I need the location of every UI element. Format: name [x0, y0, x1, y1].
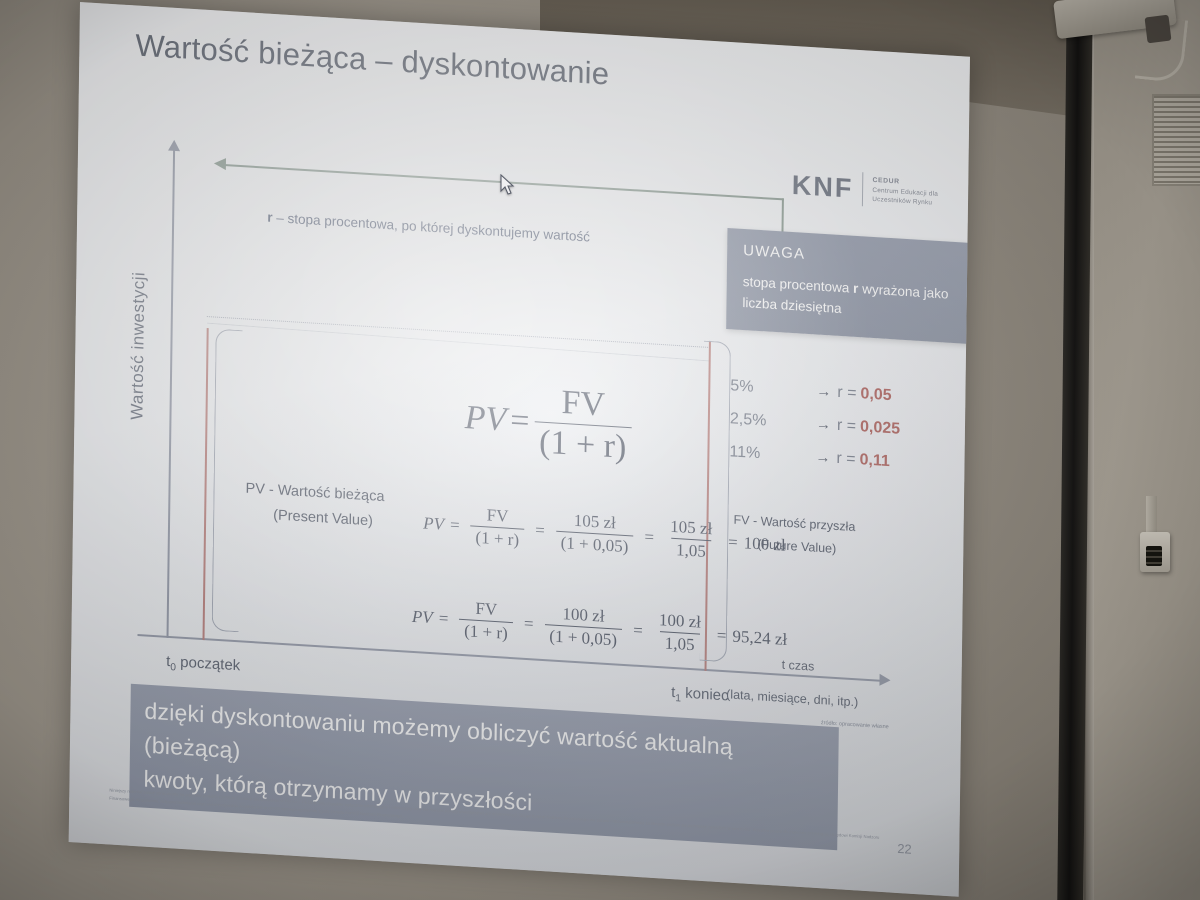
ex2-den3: 1,05 [660, 631, 700, 655]
ex2-eq2: = [518, 613, 540, 634]
ex2-frac1: FV (1 + r) [459, 598, 513, 644]
ex2-frac2: 100 zł (1 + 0,05) [544, 603, 622, 651]
ex1-eq3: = [638, 526, 660, 547]
logo-divider [862, 172, 863, 206]
y-axis-label: Wartość inwestycji [127, 250, 150, 441]
logo-subtitle: CEDUR Centrum Edukacji dla Uczestników R… [872, 176, 938, 208]
ex2-eq1: = [433, 608, 455, 629]
example-formula-1: PV = FV (1 + r) = 105 zł (1 + 0,05) = 10… [423, 502, 786, 567]
outlet-socket-face [1146, 546, 1162, 566]
ex1-den1: (1 + r) [470, 525, 524, 550]
rate-caption-text: – stopa procentowa, po której dyskontuje… [272, 210, 590, 245]
formula-numerator: FV [556, 384, 610, 426]
ex1-frac3: 105 zł 1,05 [665, 516, 718, 562]
formula-lhs: PV [464, 398, 510, 439]
rate-value: 0,05 [860, 378, 892, 413]
rate-conversion-table: 5% → r = 0,05 2,5% → r = 0,025 11% → r =… [729, 370, 960, 483]
ex1-eq2: = [529, 520, 551, 541]
x-axis-label: t czas [782, 658, 815, 674]
y-axis-line [166, 148, 175, 638]
right-arrow-icon: → [816, 377, 837, 409]
projected-slide-surface: Wartość bieżąca – dyskontowanie KNF CEDU… [68, 2, 980, 900]
uwaga-text-before: stopa procentowa [743, 274, 854, 296]
ex1-lhs: PV [423, 513, 444, 534]
ex2-eq3: = [627, 620, 649, 641]
ex1-eq1: = [444, 514, 466, 535]
ex1-frac2: 105 zł (1 + 0,05) [556, 510, 634, 558]
ex2-frac3: 100 zł 1,05 [654, 610, 707, 656]
ex2-lhs: PV [412, 606, 433, 627]
x-axis-arrowhead [879, 674, 890, 687]
uwaga-text: stopa procentowa r wyrażona jako liczba … [742, 272, 961, 327]
ex2-num1: FV [470, 598, 502, 621]
right-arrow-icon: → [816, 409, 837, 441]
uwaga-callout-box: UWAGA stopa procentowa r wyrażona jako l… [726, 228, 970, 344]
ex1-num1: FV [482, 505, 514, 528]
t1-text: koniec [685, 685, 729, 705]
fv-definition: FV - Wartość przyszła (Future Value) [733, 509, 855, 561]
logo-mark: KNF [792, 169, 854, 204]
ex2-den1: (1 + r) [459, 619, 513, 644]
ex2-eq4: = [711, 625, 733, 646]
t0-subscript: 0 [170, 662, 176, 673]
formula-denominator: (1 + r) [534, 421, 632, 467]
photo-of-projected-slide: Wartość bieżąca – dyskontowanie KNF CEDU… [0, 0, 1200, 900]
main-formula: PV = FV (1 + r) [464, 378, 637, 468]
wall-power-outlet [1140, 532, 1170, 572]
right-arrow-icon: → [815, 442, 836, 474]
pv-brace [212, 329, 243, 633]
slide-canvas: Wartość bieżąca – dyskontowanie KNF CEDU… [69, 2, 970, 897]
ex2-den2: (1 + 0,05) [544, 624, 622, 651]
discount-rate-caption: r – stopa procentowa, po której dyskontu… [267, 210, 590, 245]
ex1-den3: 1,05 [671, 538, 711, 562]
pv-line2: (Present Value) [245, 502, 384, 536]
rate-percent: 2,5% [730, 403, 816, 441]
formula-equals: = [510, 401, 530, 440]
fv-line1: FV - Wartość przyszła [733, 513, 855, 534]
ex1-frac1: FV (1 + r) [470, 504, 524, 550]
knf-logo: KNF CEDUR Centrum Edukacji dla Uczestnik… [792, 168, 939, 211]
page-number: 22 [897, 841, 912, 857]
formula-fraction: FV (1 + r) [534, 382, 632, 467]
t0-marker-line [202, 328, 208, 640]
rate-var: r = [836, 442, 860, 476]
wall-ventilation-grille [1152, 94, 1200, 186]
rate-percent: 5% [730, 370, 816, 408]
ex1-den2: (1 + 0,05) [556, 531, 634, 558]
x-axis-units: (lata, miesiące, dni, itp.) [726, 687, 858, 709]
rate-var: r = [837, 410, 861, 444]
rate-var: r = [837, 377, 861, 411]
pv-line1: PV - Wartość bieżąca [245, 481, 384, 506]
ex2-result: 95,24 zł [732, 626, 787, 649]
t1-subscript: 1 [675, 693, 681, 704]
uwaga-heading: UWAGA [743, 242, 961, 272]
rate-value: 0,025 [860, 411, 900, 446]
pv-definition: PV - Wartość bieżąca (Present Value) [245, 477, 385, 536]
rate-percent: 11% [729, 436, 815, 474]
page-title: Wartość bieżąca – dyskontowanie [135, 27, 609, 92]
t0-text: początek [180, 654, 240, 675]
t1-caption: t1 koniec [671, 684, 729, 708]
rate-value: 0,11 [859, 444, 890, 479]
logo-line2: Uczestników Rynku [872, 196, 932, 207]
example-formula-2: PV = FV (1 + r) = 100 zł (1 + 0,05) = 10… [412, 595, 788, 661]
t0-caption: t0 początek [166, 653, 240, 678]
